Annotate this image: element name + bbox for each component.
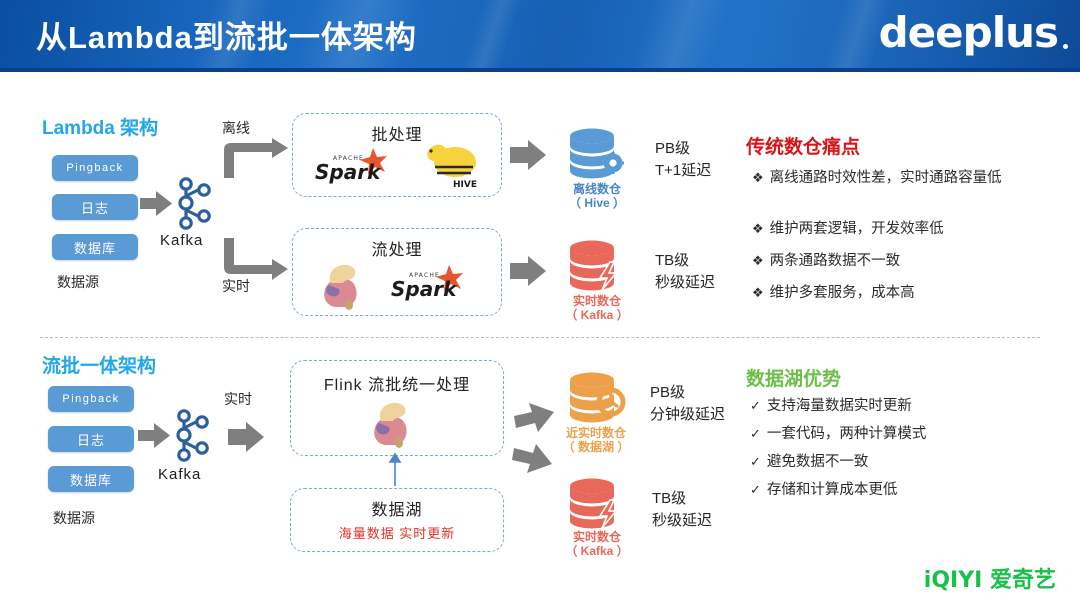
unified-realtime-store-metric-line2: 秒级延迟 [652,510,712,532]
unified-realtime-label: 实时 [224,389,252,409]
data-lake-box: 数据湖 海量数据 实时更新 [290,488,504,552]
pain-bullet-marker: ❖ [752,283,764,303]
arrow-to-realtime-store-icon [512,440,556,476]
offline-store-caption-line1: 离线数仓 [552,182,642,197]
unified-source-log: 日志 [48,426,134,452]
pain-bullet-marker: ❖ [752,168,764,188]
pain-bullet-marker: ❖ [752,219,764,239]
near-realtime-store-metric-line1: PB级 [650,382,685,404]
arrow-batch-to-store-icon [510,140,548,170]
header-shine-decoration [451,0,530,68]
realtime-store-metric-line1: TB级 [655,250,689,272]
unified-broker-label: Kafka [158,466,201,483]
advantage-text: 存储和计算成本更低 [767,480,1030,500]
near-realtime-store-metric-line2: 分钟级延迟 [650,404,725,426]
pain-point-item: ❖ 维护两套逻辑，开发效率低 [752,219,1020,239]
lambda-source-caption: 数据源 [57,272,99,292]
data-lake-subtitle: 海量数据 实时更新 [291,523,503,542]
header-shine-decoration [621,0,740,68]
flink-logo [367,399,427,449]
lambda-source-log: 日志 [52,194,138,220]
lambda-offline-label: 离线 [222,118,250,138]
advantage-text: 一套代码，两种计算模式 [767,424,1030,444]
advantage-bullet-marker: ✓ [750,396,761,416]
advantages-heading: 数据湖优势 [746,364,841,391]
pain-point-text: 两条通路数据不一致 [770,251,1020,271]
svg-text:APACHE: APACHE [333,155,364,162]
advantage-bullet-marker: ✓ [750,424,761,444]
unified-realtime-store-metric-line1: TB级 [652,488,686,510]
advantage-item: ✓ 存储和计算成本更低 [750,480,1030,500]
spark-logo: Spark APACHE [311,146,415,188]
realtime-store-caption-line2: （ Kafka ） [552,308,642,323]
arrow-offline-branch-icon [222,138,292,180]
kafka-logo-icon [166,408,216,464]
batch-processing-box: 批处理 Spark APACHE HIVE [292,113,502,197]
section-divider [40,337,1040,338]
unified-source-pingback: Pingback [48,386,134,412]
data-lake-title: 数据湖 [291,496,503,520]
advantage-text: 避免数据不一致 [767,452,1030,472]
page-title: 从Lambda到流批一体架构 [36,12,417,57]
near-realtime-store-caption-line1: 近实时数仓 [546,426,646,441]
pain-point-item: ❖ 离线通路时效性差，实时通路容量低 [752,168,1020,188]
stream-processing-title: 流处理 [293,236,501,260]
hive-logo: HIVE [423,142,485,190]
unified-realtime-store-caption-line2: （ Kafka ） [552,544,642,559]
unified-section-title: 流批一体架构 [42,351,156,378]
unified-source-caption: 数据源 [53,508,95,528]
advantage-bullet-marker: ✓ [750,452,761,472]
flink-unified-box: Flink 流批统一处理 [290,360,504,456]
slide-header: 从Lambda到流批一体架构 deeplus [0,0,1080,68]
database-gear-icon [566,128,628,180]
flink-logo [317,261,377,309]
arrow-kafka-to-flink-icon [228,422,266,452]
near-realtime-store-caption-line2: （ 数据湖 ） [546,440,646,455]
offline-store-metric-line1: PB级 [655,138,690,160]
brand-dot-decoration [1063,44,1068,49]
stream-processing-box: 流处理 Spark APACHE [292,228,502,316]
realtime-store-caption-line1: 实时数仓 [552,294,642,309]
slide-root: 从Lambda到流批一体架构 deeplus Lambda 架构 Pingbac… [0,0,1080,608]
connector-flink-lake-icon [388,452,404,488]
offline-store-metric-line2: T+1延迟 [655,160,711,182]
database-bolt-icon [566,478,628,530]
deeplus-brand-logo: deeplus [879,8,1058,57]
lambda-section-title: Lambda 架构 [42,113,158,140]
pain-point-text: 维护多套服务，成本高 [770,283,1020,303]
kafka-logo-icon [168,176,218,232]
pain-points-heading: 传统数仓痛点 [746,132,860,159]
svg-text:APACHE: APACHE [409,272,440,279]
unified-source-database: 数据库 [48,466,134,492]
pain-point-text: 维护两套逻辑，开发效率低 [770,219,1020,239]
pain-bullet-marker: ❖ [752,251,764,271]
pain-point-text: 离线通路时效性差，实时通路容量低 [770,168,1020,188]
advantage-item: ✓ 一套代码，两种计算模式 [750,424,1030,444]
spark-logo: Spark APACHE [387,263,491,305]
database-bolt-icon [566,240,628,292]
lambda-broker-label: Kafka [160,232,203,249]
lambda-realtime-label: 实时 [222,276,250,296]
header-underline [0,68,1080,72]
advantage-text: 支持海量数据实时更新 [767,396,1030,416]
arrow-stream-to-store-icon [510,256,548,286]
lambda-source-database: 数据库 [52,234,138,260]
iqiyi-logo: iQIYI 爱奇艺 [924,562,1056,594]
advantage-item: ✓ 避免数据不一致 [750,452,1030,472]
svg-text:HIVE: HIVE [453,180,477,190]
flink-unified-title: Flink 流批统一处理 [291,371,503,395]
pain-point-item: ❖ 两条通路数据不一致 [752,251,1020,271]
pain-point-item: ❖ 维护多套服务，成本高 [752,283,1020,303]
arrow-realtime-branch-icon [222,238,292,280]
unified-realtime-store-caption-line1: 实时数仓 [552,530,642,545]
advantage-item: ✓ 支持海量数据实时更新 [750,396,1030,416]
database-clock-icon [566,372,630,424]
realtime-store-metric-line2: 秒级延迟 [655,272,715,294]
advantage-bullet-marker: ✓ [750,480,761,500]
svg-text:Spark: Spark [315,160,382,184]
lambda-source-pingback: Pingback [52,155,138,181]
svg-text:Spark: Spark [391,277,458,301]
offline-store-caption-line2: （ Hive ） [552,196,642,211]
